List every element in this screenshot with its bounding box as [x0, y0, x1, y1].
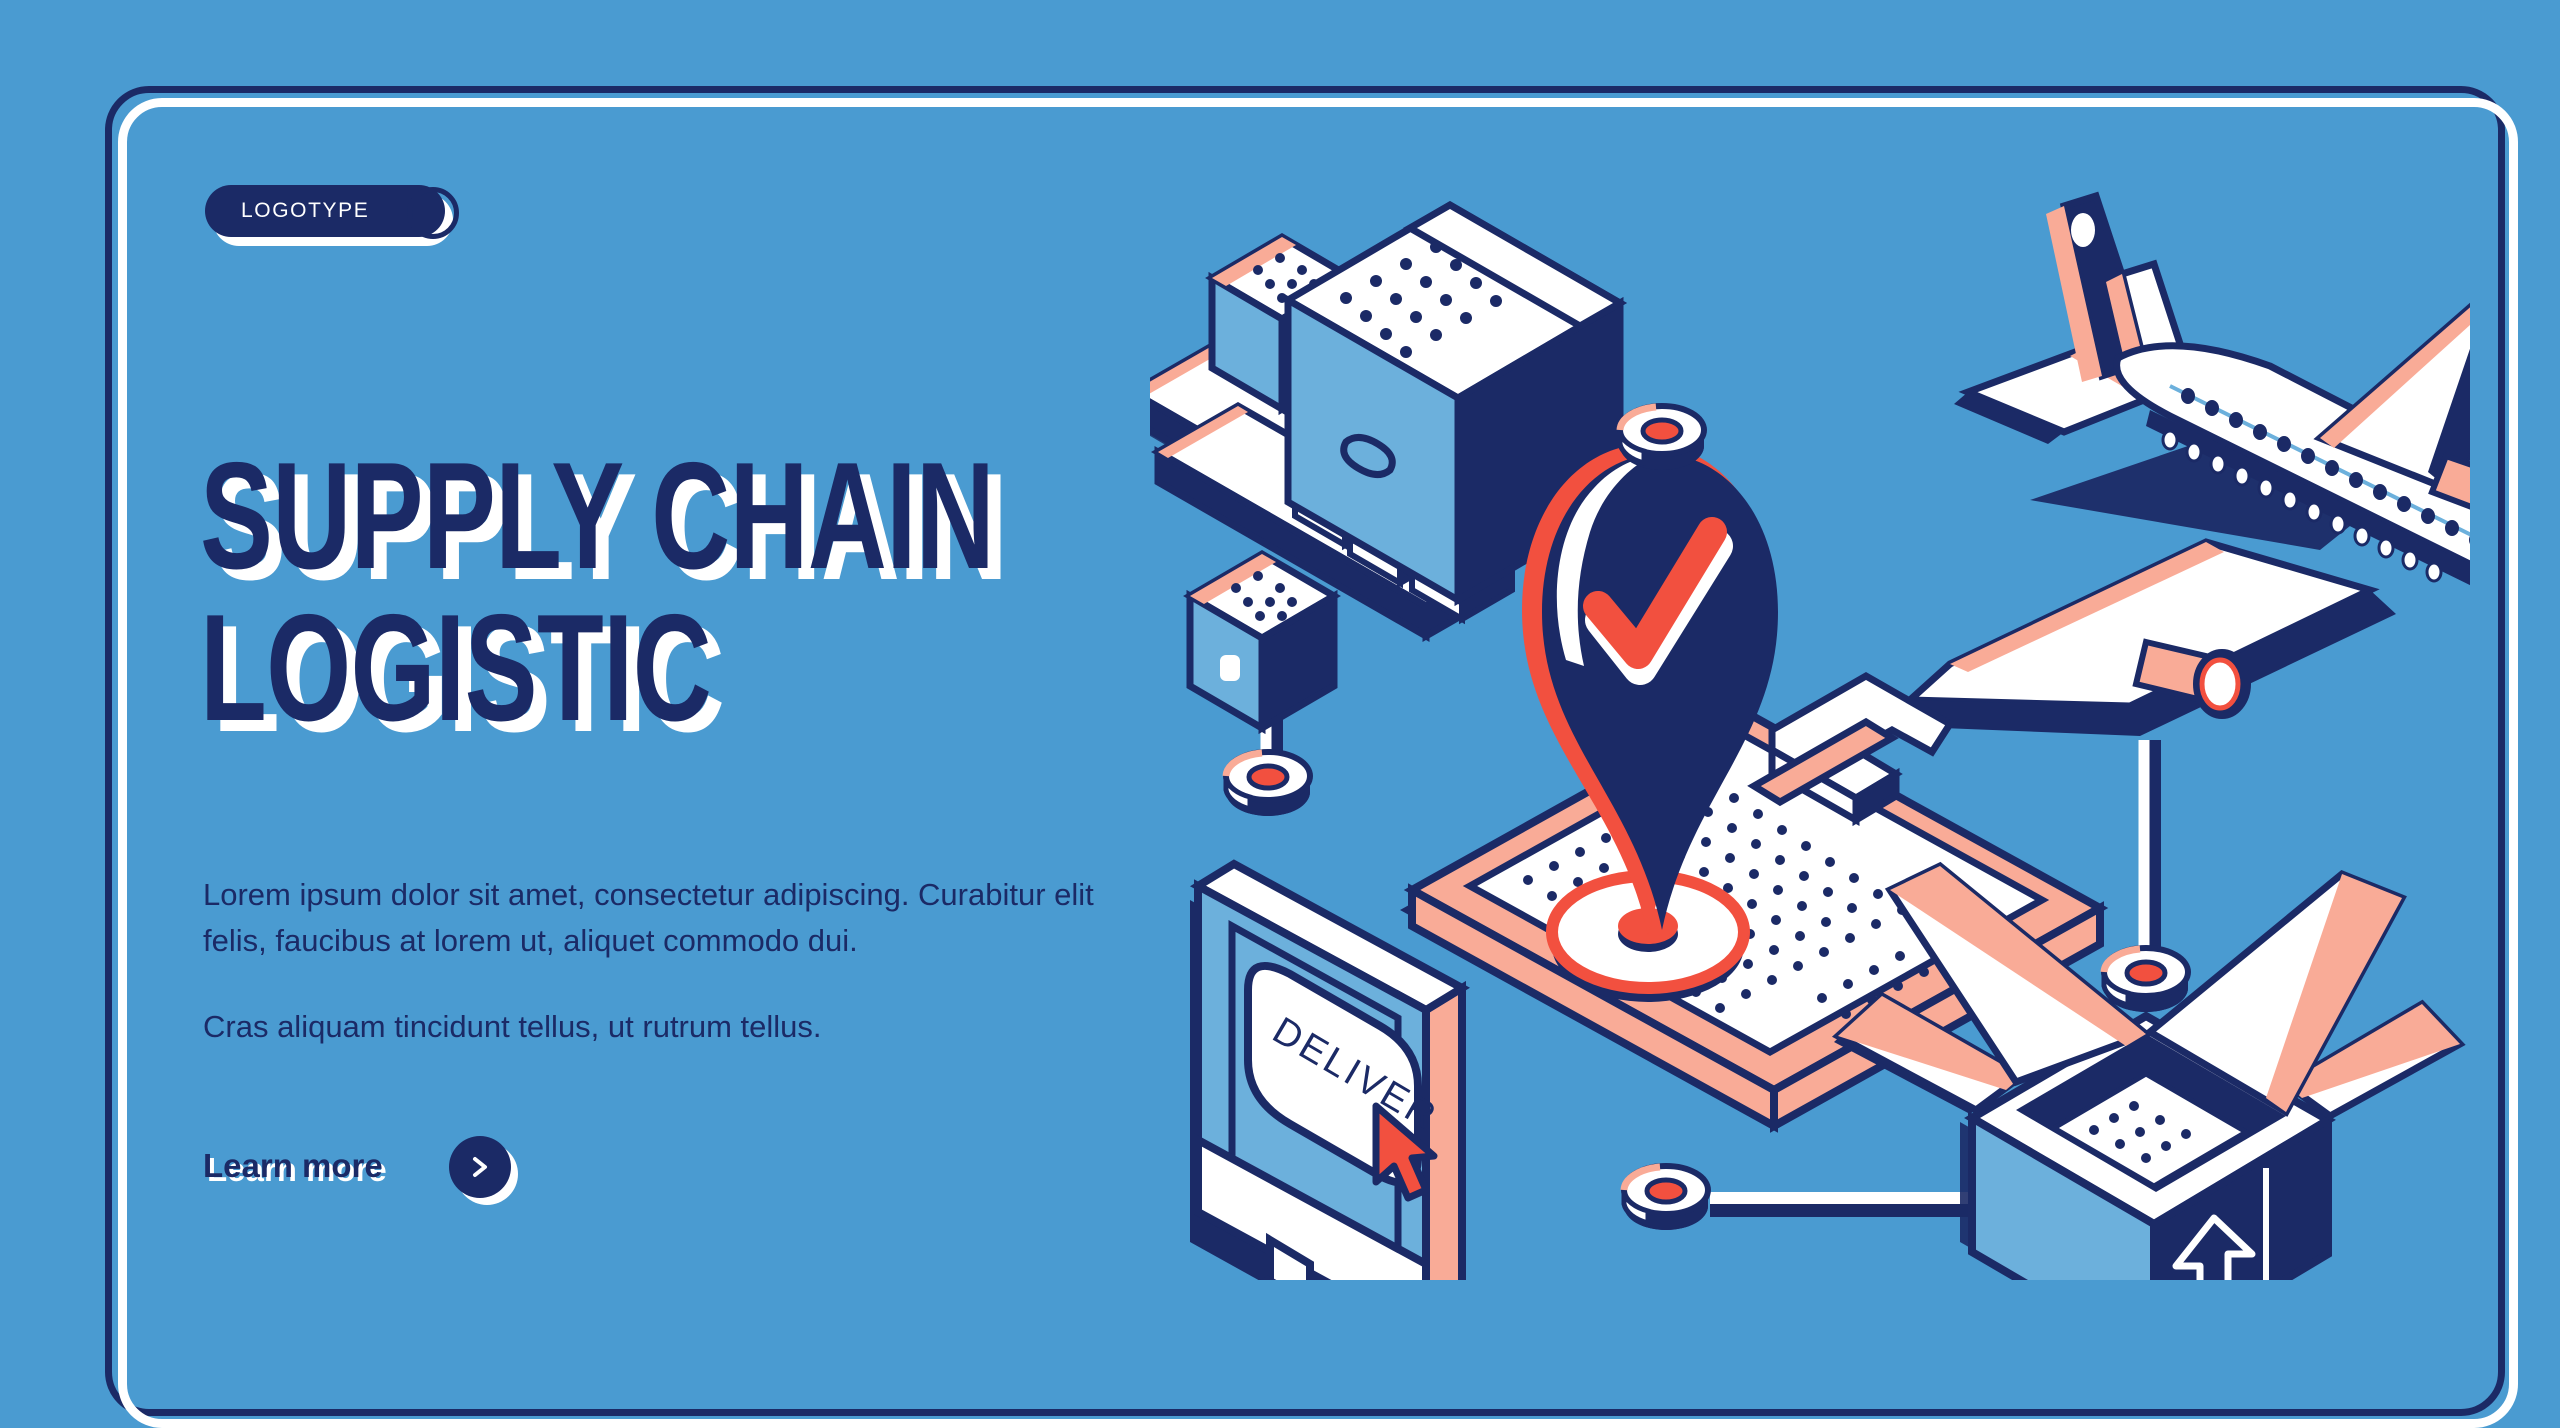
headline-line-2: LOGISTIC LOGISTIC	[200, 592, 1120, 744]
hero-paragraph-2: Cras aliquam tincidunt tellus, ut rutrum…	[203, 1004, 1103, 1050]
learn-more-button-circle[interactable]	[449, 1136, 511, 1198]
cargo-airplane	[1894, 196, 2470, 736]
hero-description: Lorem ipsum dolor sit amet, consectetur …	[203, 872, 1103, 1050]
logotype[interactable]: LOGOTYPE	[205, 185, 465, 247]
isometric-logistics-illustration: DELIVER	[1150, 100, 2470, 1280]
connector-node-small-box	[1226, 752, 1310, 816]
page-title: SUPPLY CHAIN SUPPLY CHAIN LOGISTIC LOGIS…	[200, 440, 1120, 744]
connector-node-open-box-left	[1624, 1166, 1708, 1230]
logotype-label: LOGOTYPE	[241, 199, 369, 223]
logotype-ring-navy-icon	[407, 187, 459, 239]
connector-node-pallet	[1620, 406, 1704, 470]
map-pin-check	[1522, 444, 1778, 1002]
connector-node-open-box-top	[2104, 948, 2188, 1012]
landing-page-banner: LOGOTYPE SUPPLY CHAIN SUPPLY CHAIN LOGIS…	[0, 0, 2560, 1380]
learn-more-label-wrap: Learn more Learn more	[203, 1147, 433, 1193]
hero-paragraph-1: Lorem ipsum dolor sit amet, consectetur …	[203, 872, 1103, 964]
chevron-right-icon	[467, 1154, 493, 1180]
learn-more-label: Learn more	[203, 1147, 383, 1185]
headline-line-1: SUPPLY CHAIN SUPPLY CHAIN	[200, 440, 1120, 592]
learn-more-cta[interactable]: Learn more Learn more	[203, 1135, 517, 1205]
headline-line-2-text: LOGISTIC	[200, 592, 711, 744]
learn-more-button[interactable]	[449, 1136, 517, 1204]
headline-line-1-text: SUPPLY CHAIN	[200, 440, 994, 592]
